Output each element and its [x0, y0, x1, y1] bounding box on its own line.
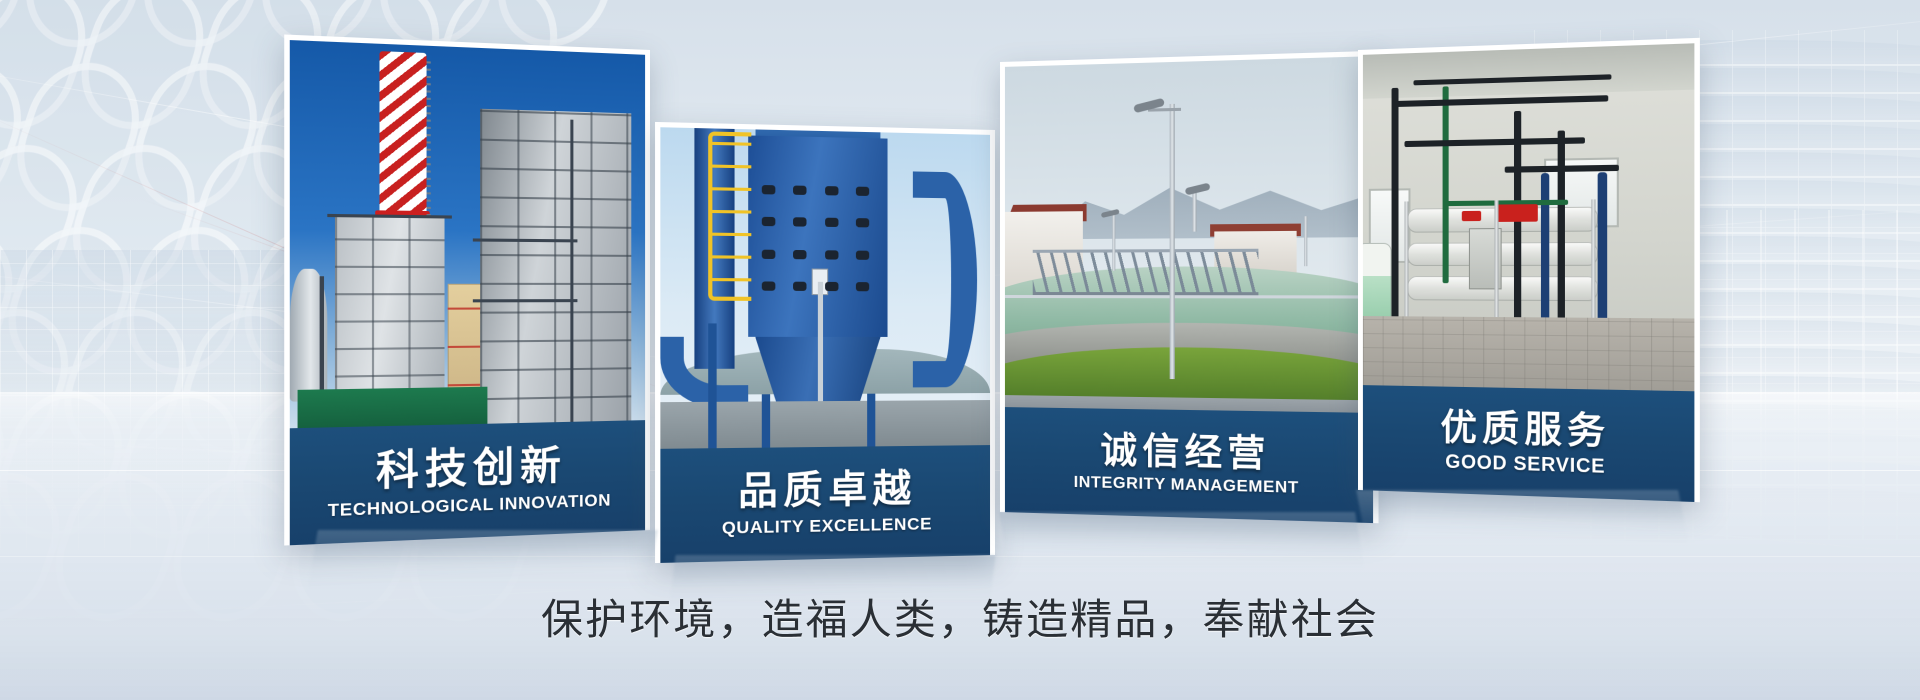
ladder-rung [708, 278, 752, 281]
baghouse-valve [825, 218, 838, 227]
baghouse-valve [762, 217, 776, 226]
baghouse-valve [856, 218, 869, 227]
panel-4-caption-en: GOOD SERVICE [1445, 452, 1605, 476]
blue-baghouse-dust-collector-photo [660, 127, 990, 454]
value-panel-good-service[interactable]: 优质服务 GOOD SERVICE [1358, 38, 1700, 502]
panel-4-caption-cn: 优质服务 [1440, 408, 1610, 449]
panel-2-caption-cn: 品质卓越 [738, 470, 916, 512]
baghouse-valve [793, 185, 806, 194]
panel-2-caption-en: QUALITY EXCELLENCE [722, 515, 932, 537]
baghouse-valve [793, 282, 806, 291]
baghouse-valve [825, 186, 838, 195]
ladder-rung [708, 255, 752, 258]
tagline: 保护环境，造福人类，铸造精品，奉献社会 [0, 586, 1920, 647]
baghouse-valve [793, 250, 806, 259]
ladder-rung [708, 210, 752, 214]
baghouse-valve [793, 217, 806, 226]
panel-3-caption-en: INTEGRITY MANAGEMENT [1074, 475, 1299, 497]
baghouse-valve [762, 281, 776, 290]
value-panel-quality-excellence[interactable]: 品质卓越 QUALITY EXCELLENCE [655, 122, 995, 563]
baghouse-valve [825, 282, 838, 291]
panel-3-caption-cn: 诚信经营 [1100, 432, 1270, 472]
baghouse-valve [856, 186, 869, 195]
panel-3-caption: 诚信经营 INTEGRITY MANAGEMENT [1005, 407, 1373, 523]
panel-1-caption: 科技创新 TECHNOLOGICAL INNOVATION [290, 420, 645, 545]
panel-2-caption: 品质卓越 QUALITY EXCELLENCE [660, 445, 990, 563]
value-panel-group: 科技创新 TECHNOLOGICAL INNOVATION [0, 0, 1920, 620]
banner-stage: 科技创新 TECHNOLOGICAL INNOVATION [0, 0, 1920, 700]
baghouse-valve [856, 250, 869, 259]
value-panel-technological-innovation[interactable]: 科技创新 TECHNOLOGICAL INNOVATION [284, 34, 650, 545]
wastewater-treatment-clarifier-photo [1005, 56, 1373, 418]
reverse-osmosis-water-treatment-skid-photo [1363, 43, 1695, 396]
baghouse-valve [762, 249, 776, 258]
panel-1-caption-en: TECHNOLOGICAL INNOVATION [328, 491, 611, 519]
panel-4-caption: 优质服务 GOOD SERVICE [1363, 385, 1695, 502]
baghouse-valve [825, 250, 838, 259]
baghouse-valve [762, 185, 776, 194]
panel-1-caption-cn: 科技创新 [376, 445, 566, 492]
flue-gas-desulfurization-stack-photo [290, 40, 645, 434]
value-panel-integrity-management[interactable]: 诚信经营 INTEGRITY MANAGEMENT [1000, 51, 1379, 523]
ladder-rung [708, 232, 752, 236]
baghouse-valve [856, 282, 869, 291]
